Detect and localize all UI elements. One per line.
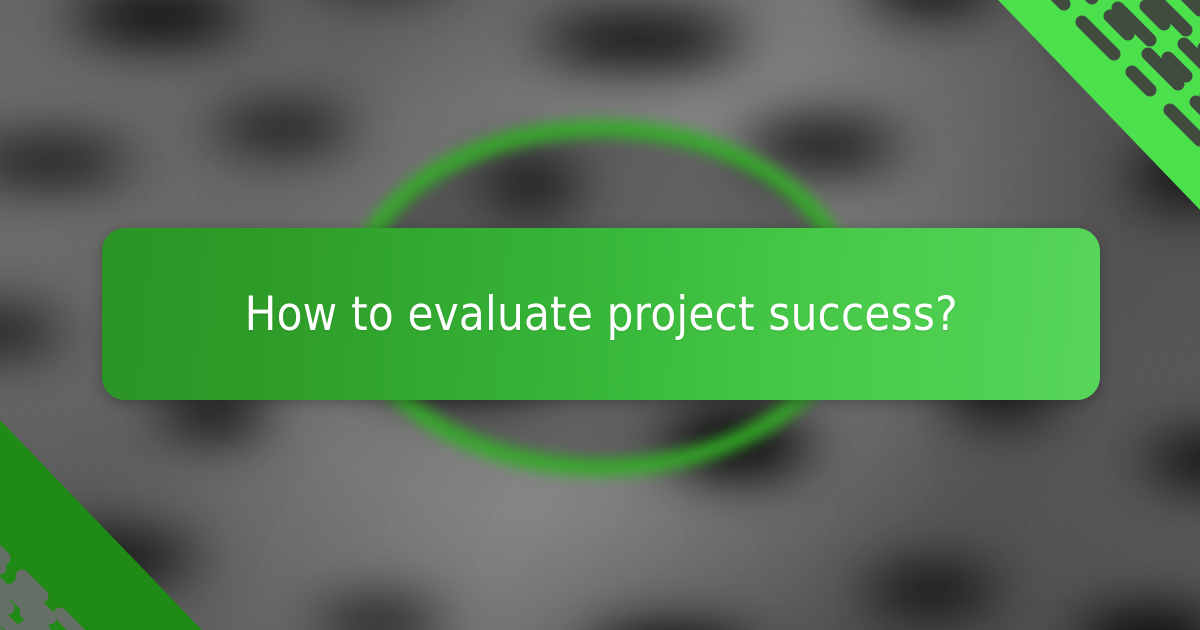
banner-canvas: How to evaluate project success?: [0, 0, 1200, 630]
headline-card: How to evaluate project success?: [102, 228, 1100, 400]
headline-text: How to evaluate project success?: [244, 291, 957, 338]
corner-decoration-bottom-left: [0, 420, 260, 630]
diagonal-dash-pattern-icon: [940, 0, 1200, 210]
corner-decoration-top-right: [940, 0, 1200, 210]
diagonal-dash-pattern-icon: [0, 420, 260, 630]
